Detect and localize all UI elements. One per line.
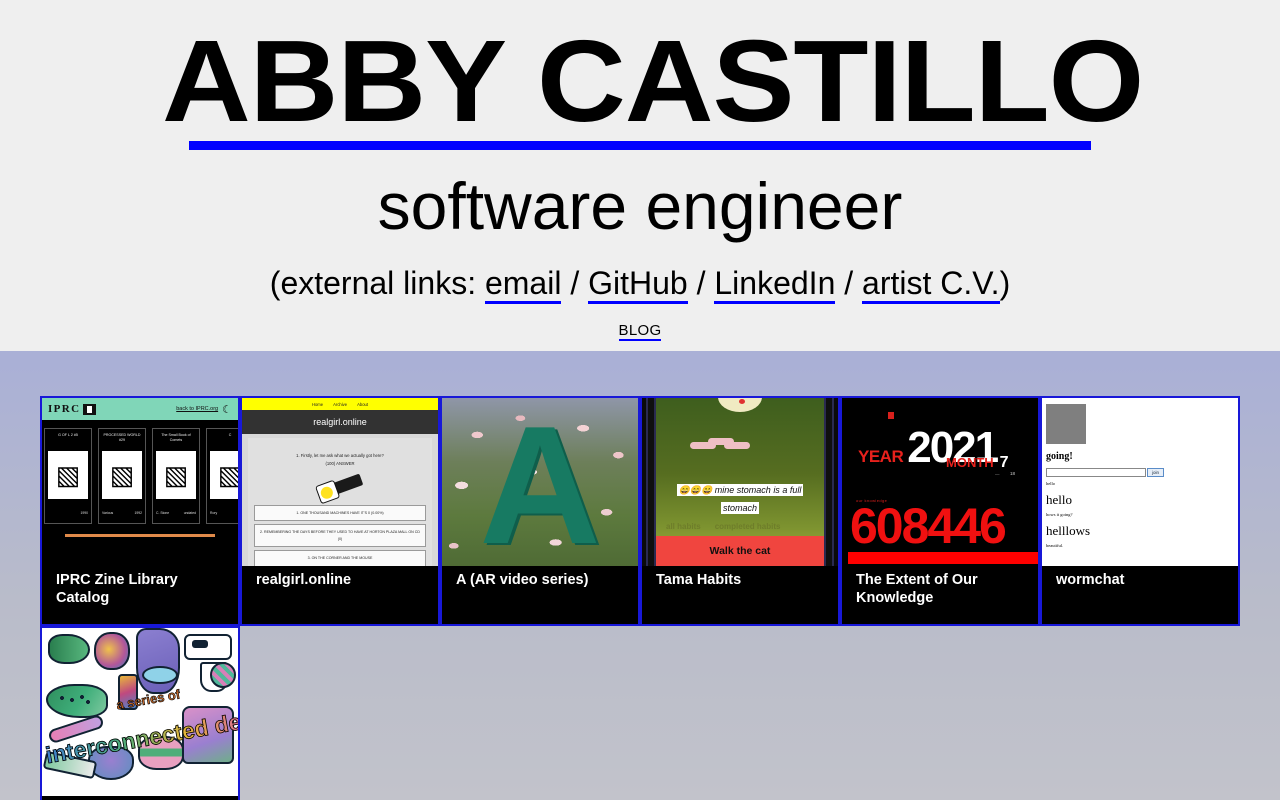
zine-card[interactable]: The Small Book of Comets ▧ C. Stoneundat… <box>152 428 200 524</box>
tagline: software engineer <box>0 172 1280 241</box>
iprc-logo-mark <box>83 404 96 415</box>
project-thumbnail-wormchat: going! join hello hello hows it going? h… <box>1042 398 1238 566</box>
realgirl-option[interactable]: 3. ON THE CORNER AND THE MOUSE <box>254 550 426 566</box>
zine-meta: Rory <box>210 511 238 515</box>
iprc-logo: IPRC <box>48 403 96 415</box>
leg-illustration <box>136 628 180 694</box>
croc-shoe-illustration <box>46 684 108 718</box>
worm-icon <box>690 438 746 448</box>
tama-link-all-habits[interactable]: all habits <box>666 522 701 531</box>
tama-link-completed-habits[interactable]: completed habits <box>715 522 781 531</box>
link-github[interactable]: GitHub <box>588 265 688 304</box>
project-thumbnail-eok: YEAR 2021 MONTH 7 — 18 our knowledge 608… <box>842 398 1038 566</box>
realgirl-question-sub: (100) ANSWER <box>248 460 432 468</box>
link-blog-label: BLOG <box>619 322 662 339</box>
open-book-icon: ▧ <box>164 462 189 488</box>
project-caption: wormchat <box>1042 566 1238 602</box>
eok-month-label: MONTH <box>946 455 994 470</box>
wormchat-message-input[interactable] <box>1046 468 1146 477</box>
tama-screen: 😄😄😄 mine stomach is a full stomach all h… <box>656 398 824 566</box>
link-separator-1: / <box>561 265 588 301</box>
project-card-a-series-of-interconnected-delights[interactable]: a series of interconnected delights A Se… <box>40 626 240 800</box>
wormchat-heading: going! <box>1046 451 1234 462</box>
link-linkedin[interactable]: LinkedIn <box>714 265 835 304</box>
project-caption: The Extent of Our Knowledge <box>842 566 1038 624</box>
zine-author: Various <box>102 511 113 515</box>
realgirl-nav-about[interactable]: About <box>357 402 368 407</box>
zine-card[interactable]: PROCESSED WORLD #29 ▧ Various1992 <box>98 428 146 524</box>
title-block: ABBY CASTILLO <box>189 28 1091 150</box>
zine-year: undated <box>184 511 196 515</box>
link-blog[interactable]: BLOG <box>619 322 662 341</box>
moon-icon[interactable]: ☾ <box>222 403 232 416</box>
lighter-illustration <box>118 674 138 710</box>
project-caption: Tama Habits <box>642 566 838 602</box>
realgirl-option[interactable]: 2. REMEMBERING THE DAYS BEFORE THEY USED… <box>254 524 426 547</box>
sunglasses-illustration <box>184 634 232 660</box>
zine-title: C <box>227 433 234 449</box>
eok-tick-mark <box>888 412 894 419</box>
link-github-label: GitHub <box>588 265 688 301</box>
zine-year: 1992 <box>134 511 142 515</box>
realgirl-nav: Home Archive About <box>242 398 438 410</box>
link-email-label: email <box>485 265 561 301</box>
external-links-suffix: ) <box>1000 265 1011 301</box>
project-grid: IPRC back to IPRC.org ☾ G OF L 2 #5 ▧ 19… <box>40 396 1240 800</box>
realgirl-site-title: realgirl.online <box>242 410 438 434</box>
zine-meta: 1990 <box>48 511 88 515</box>
zine-cover: ▧ <box>48 451 88 499</box>
eok-progress-bar <box>848 552 1038 564</box>
zine-title: PROCESSED WORLD #29 <box>99 433 145 449</box>
project-thumbnail-ar: A <box>442 398 638 566</box>
project-thumbnail-tama: 😄😄😄 mine stomach is a full stomach all h… <box>642 398 838 566</box>
external-links-prefix: (external links: <box>270 265 485 301</box>
wormchat-submit-button[interactable]: join <box>1147 468 1164 477</box>
blog-line: BLOG <box>0 322 1280 339</box>
project-card-wormchat[interactable]: going! join hello hello hows it going? h… <box>1040 396 1240 626</box>
tank-top-illustration <box>182 706 234 764</box>
page-title: ABBY CASTILLO <box>162 28 1118 135</box>
project-caption: realgirl.online <box>242 566 438 602</box>
wormchat-message: hello <box>1046 492 1234 508</box>
ball-illustration <box>210 662 236 688</box>
project-caption: A (AR video series) <box>442 566 638 602</box>
bag-illustration <box>94 632 130 670</box>
ar-letter-a: A <box>479 401 600 566</box>
tama-message-text: 😄😄😄 mine stomach is a full stomach <box>677 484 804 514</box>
zine-cover: ▧ <box>156 451 196 499</box>
realgirl-body: 1. Firstly, let me ask what we actually … <box>248 438 432 566</box>
phone-bezel-right <box>824 398 834 566</box>
zine-author: C. Stone <box>156 511 169 515</box>
wormchat-image-placeholder <box>1046 404 1086 444</box>
iprc-zine-row: G OF L 2 #5 ▧ 1990 PROCESSED WORLD #29 ▧… <box>42 420 238 524</box>
link-artist-cv-label: artist C.V. <box>862 265 1000 301</box>
link-artist-cv[interactable]: artist C.V. <box>862 265 1000 304</box>
project-caption: A Series of Interconnected Delights <box>42 796 238 800</box>
zine-cover: ▧ <box>210 451 238 499</box>
site-header: ABBY CASTILLO software engineer (externa… <box>0 0 1280 351</box>
link-linkedin-label: LinkedIn <box>714 265 835 301</box>
realgirl-question: 1. Firstly, let me ask what we actually … <box>248 452 432 460</box>
link-email[interactable]: email <box>485 265 561 304</box>
project-card-a-ar-video-series[interactable]: A A (AR video series) <box>440 396 640 626</box>
realgirl-nav-home[interactable]: Home <box>312 402 323 407</box>
project-caption: IPRC Zine Library Catalog <box>42 566 238 624</box>
tama-message: 😄😄😄 mine stomach is a full stomach <box>664 480 816 516</box>
eok-month-value: 7 <box>1000 454 1009 472</box>
zine-meta: Various1992 <box>102 511 142 515</box>
zine-title: The Small Book of Comets <box>153 433 199 449</box>
iprc-back-link[interactable]: back to IPRC.org <box>176 406 218 412</box>
eok-year-label: YEAR <box>858 447 903 467</box>
eok-counter-value: 608446 <box>850 501 1005 551</box>
link-separator-2: / <box>688 265 715 301</box>
iprc-header-bar: IPRC back to IPRC.org ☾ <box>42 398 238 420</box>
open-book-icon: ▧ <box>110 462 135 488</box>
project-thumbnail-iprc: IPRC back to IPRC.org ☾ G OF L 2 #5 ▧ 19… <box>42 398 238 566</box>
tama-cta-button[interactable]: Walk the cat <box>656 536 824 566</box>
eok-day-dash: — <box>995 472 1000 477</box>
open-book-icon: ▧ <box>218 462 238 488</box>
crayon-illustration <box>47 714 105 745</box>
tama-links: all habits completed habits <box>666 522 780 531</box>
zine-title: G OF L 2 #5 <box>56 433 80 449</box>
zine-author: Rory <box>210 511 217 515</box>
project-card-iprc-zine-library-catalog[interactable]: IPRC back to IPRC.org ☾ G OF L 2 #5 ▧ 19… <box>40 396 240 626</box>
moon-icon <box>718 398 762 412</box>
project-card-tama-habits[interactable]: 😄😄😄 mine stomach is a full stomach all h… <box>640 396 840 626</box>
project-thumbnail-realgirl: Home Archive About realgirl.online 1. Fi… <box>242 398 438 566</box>
external-links-line: (external links: email / GitHub / Linked… <box>0 265 1280 302</box>
realgirl-option[interactable]: 1. ONE THOUSAND MACHINES HAVE IT'S 0 (0.… <box>254 505 426 521</box>
iprc-logo-text: IPRC <box>48 403 81 415</box>
zine-card[interactable]: G OF L 2 #5 ▧ 1990 <box>44 428 92 524</box>
macaron-illustration <box>138 736 184 770</box>
zine-card[interactable]: C ▧ Rory <box>206 428 238 524</box>
wormchat-message: hows it going? <box>1046 512 1234 517</box>
zine-cover: ▧ <box>102 451 142 499</box>
project-thumbnail-delights: a series of interconnected delights <box>42 628 238 796</box>
zine-year: 1990 <box>80 511 88 515</box>
iprc-divider <box>65 534 215 537</box>
wormchat-message: hello <box>1046 481 1234 486</box>
zine-meta: C. Stoneundated <box>156 511 196 515</box>
project-card-the-extent-of-our-knowledge[interactable]: YEAR 2021 MONTH 7 — 18 our knowledge 608… <box>840 396 1040 626</box>
project-card-realgirl-online[interactable]: Home Archive About realgirl.online 1. Fi… <box>240 396 440 626</box>
wormchat-message: helllows <box>1046 523 1234 539</box>
eok-month: MONTH 7 <box>946 454 1009 472</box>
link-separator-3: / <box>835 265 862 301</box>
wormchat-message: beautiful. <box>1046 543 1234 548</box>
leaf-illustration <box>48 634 90 664</box>
open-book-icon: ▧ <box>56 462 81 488</box>
wormchat-form: join <box>1046 468 1234 477</box>
flashlight-icon <box>315 470 366 506</box>
realgirl-nav-archive[interactable]: Archive <box>333 402 347 407</box>
eok-day-value: 18 <box>1010 471 1015 476</box>
phone-bezel-left <box>646 398 656 566</box>
